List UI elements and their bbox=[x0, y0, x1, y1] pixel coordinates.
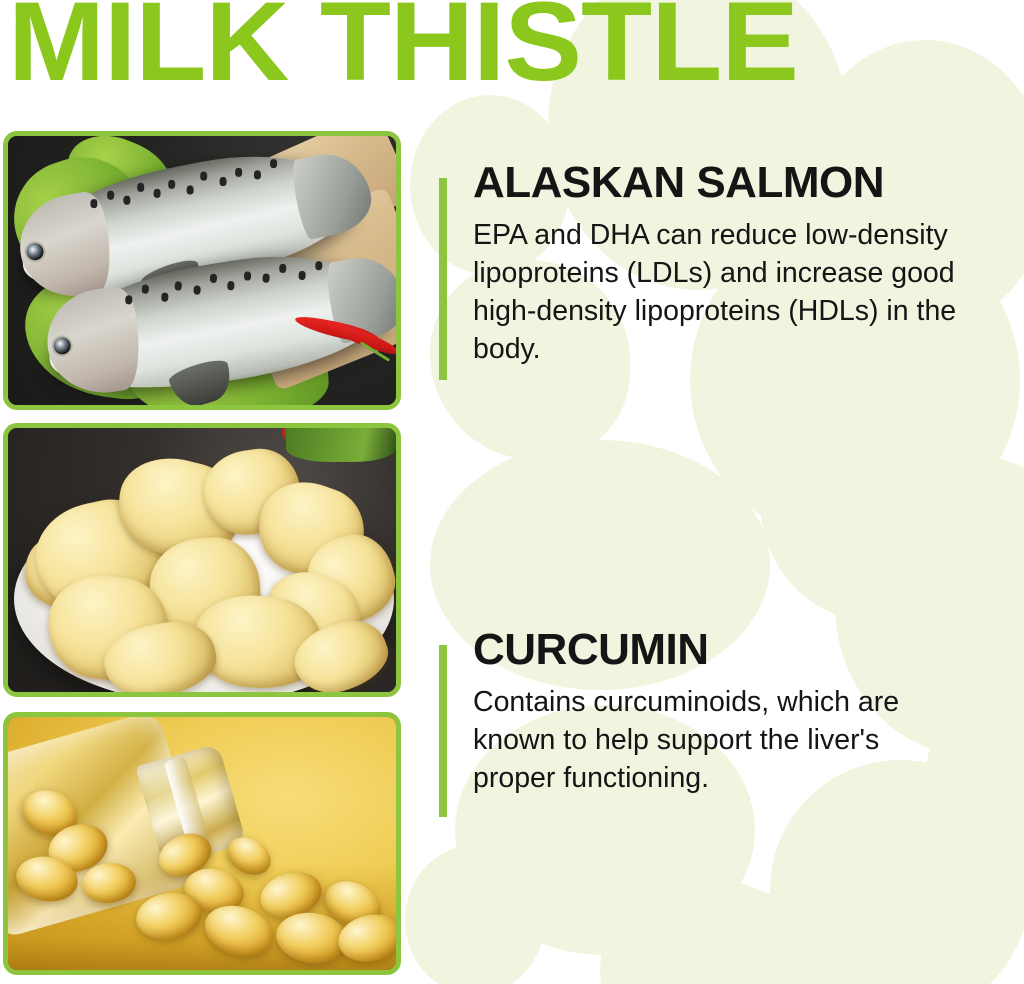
section-curcumin: CURCUMIN Contains curcuminoids, which ar… bbox=[437, 625, 1017, 797]
section-heading: ALASKAN SALMON bbox=[473, 158, 1017, 208]
background-scallion bbox=[286, 428, 396, 462]
fish-eye bbox=[25, 241, 45, 261]
section-alaskan-salmon: ALASKAN SALMON EPA and DHA can reduce lo… bbox=[437, 158, 1017, 368]
background-blob bbox=[405, 845, 545, 984]
fish-oil-capsules-photo bbox=[8, 717, 396, 970]
infographic-page: MILK THISTLE bbox=[0, 0, 1024, 984]
section-heading: CURCUMIN bbox=[473, 625, 1017, 675]
photo-card-alaskan-salmon bbox=[3, 131, 401, 410]
photo-column bbox=[3, 131, 407, 975]
header: MILK THISTLE bbox=[0, 0, 1024, 100]
accent-bar bbox=[439, 178, 447, 380]
accent-bar bbox=[439, 645, 447, 817]
section-body: Contains curcuminoids, which are known t… bbox=[473, 683, 903, 797]
content-column: ALASKAN SALMON EPA and DHA can reduce lo… bbox=[437, 120, 1017, 712]
photo-card-omega-3 bbox=[3, 712, 401, 975]
page-title: MILK THISTLE bbox=[8, 0, 798, 98]
ginger-photo bbox=[8, 428, 396, 692]
salmon-photo bbox=[8, 136, 396, 405]
fish-eye bbox=[53, 336, 72, 355]
photo-card-curcumin bbox=[3, 423, 401, 697]
section-body: EPA and DHA can reduce low-density lipop… bbox=[473, 216, 1017, 368]
